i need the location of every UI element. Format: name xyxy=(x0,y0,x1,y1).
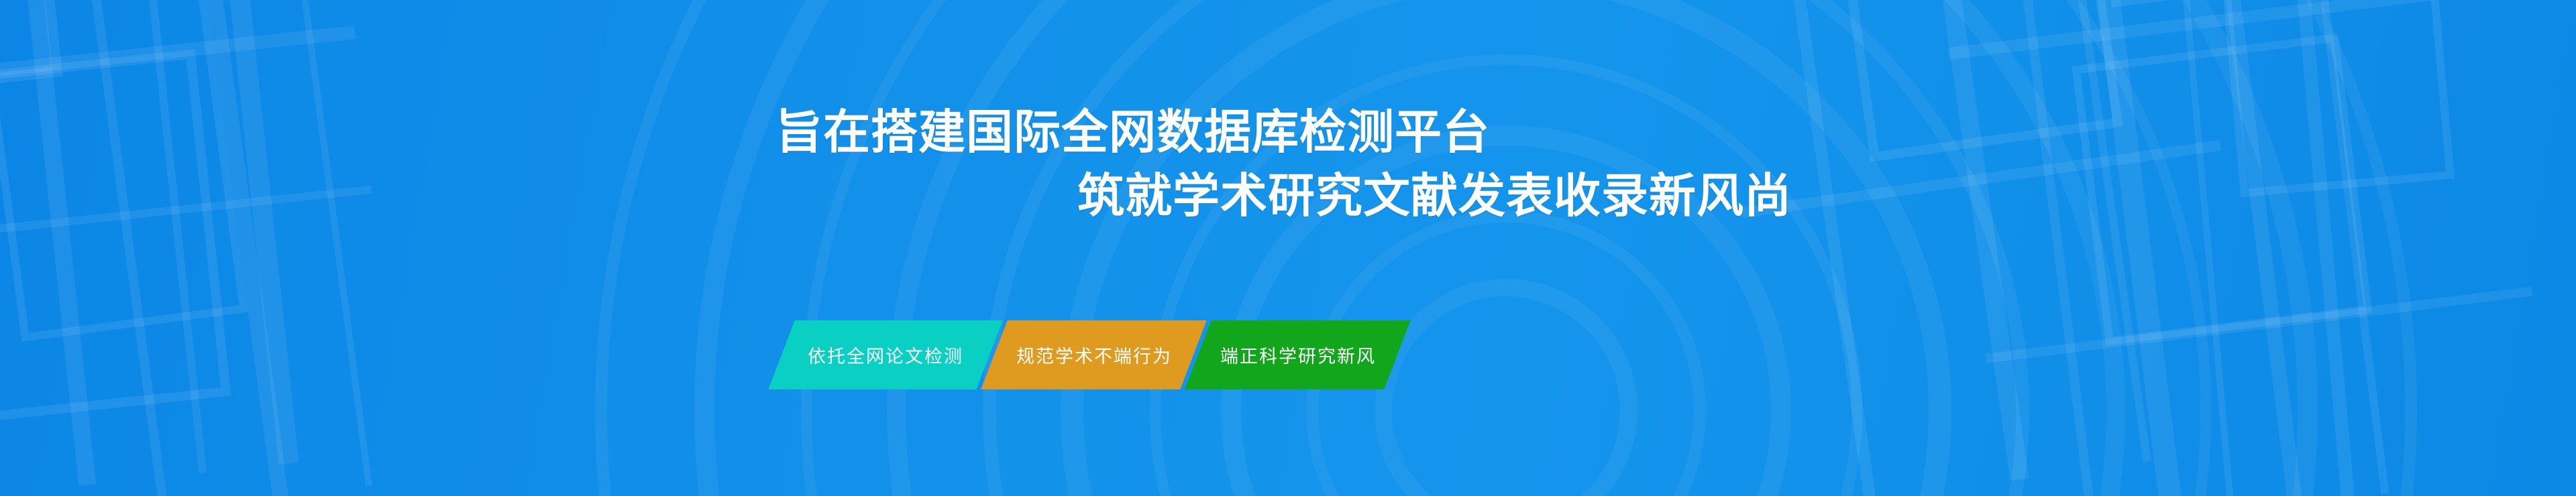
grid-line-vertical xyxy=(2159,0,2237,496)
headline-block: 旨在搭建国际全网数据库检测平台 筑就学术研究文献发表收录新风尚 xyxy=(0,101,2576,227)
tag-label: 端正科学研究新风 xyxy=(1220,342,1376,368)
tag-label: 依托全网论文检测 xyxy=(808,342,963,368)
tag-full-network-detection[interactable]: 依托全网论文检测 xyxy=(768,320,1003,389)
headline-line-1: 旨在搭建国际全网数据库检测平台 xyxy=(775,101,2576,164)
grid-cluster-right-secondary xyxy=(2098,0,2576,496)
promo-banner: 旨在搭建国际全网数据库检测平台 筑就学术研究文献发表收录新风尚 依托全网论文检测… xyxy=(0,0,2576,496)
tag-rectify-research-ethos[interactable]: 端正科学研究新风 xyxy=(1185,320,1411,389)
feature-tag-bar: 依托全网论文检测 规范学术不端行为 端正科学研究新风 xyxy=(768,320,1411,389)
tag-regulate-misconduct[interactable]: 规范学术不端行为 xyxy=(981,320,1207,389)
headline-line-2: 筑就学术研究文献发表收录新风尚 xyxy=(1077,164,2576,228)
grid-cluster-left-secondary xyxy=(0,0,466,496)
tech-line-grid-decoration xyxy=(0,0,2576,496)
tag-label: 规范学术不端行为 xyxy=(1016,342,1172,368)
grid-line-vertical xyxy=(262,0,372,486)
